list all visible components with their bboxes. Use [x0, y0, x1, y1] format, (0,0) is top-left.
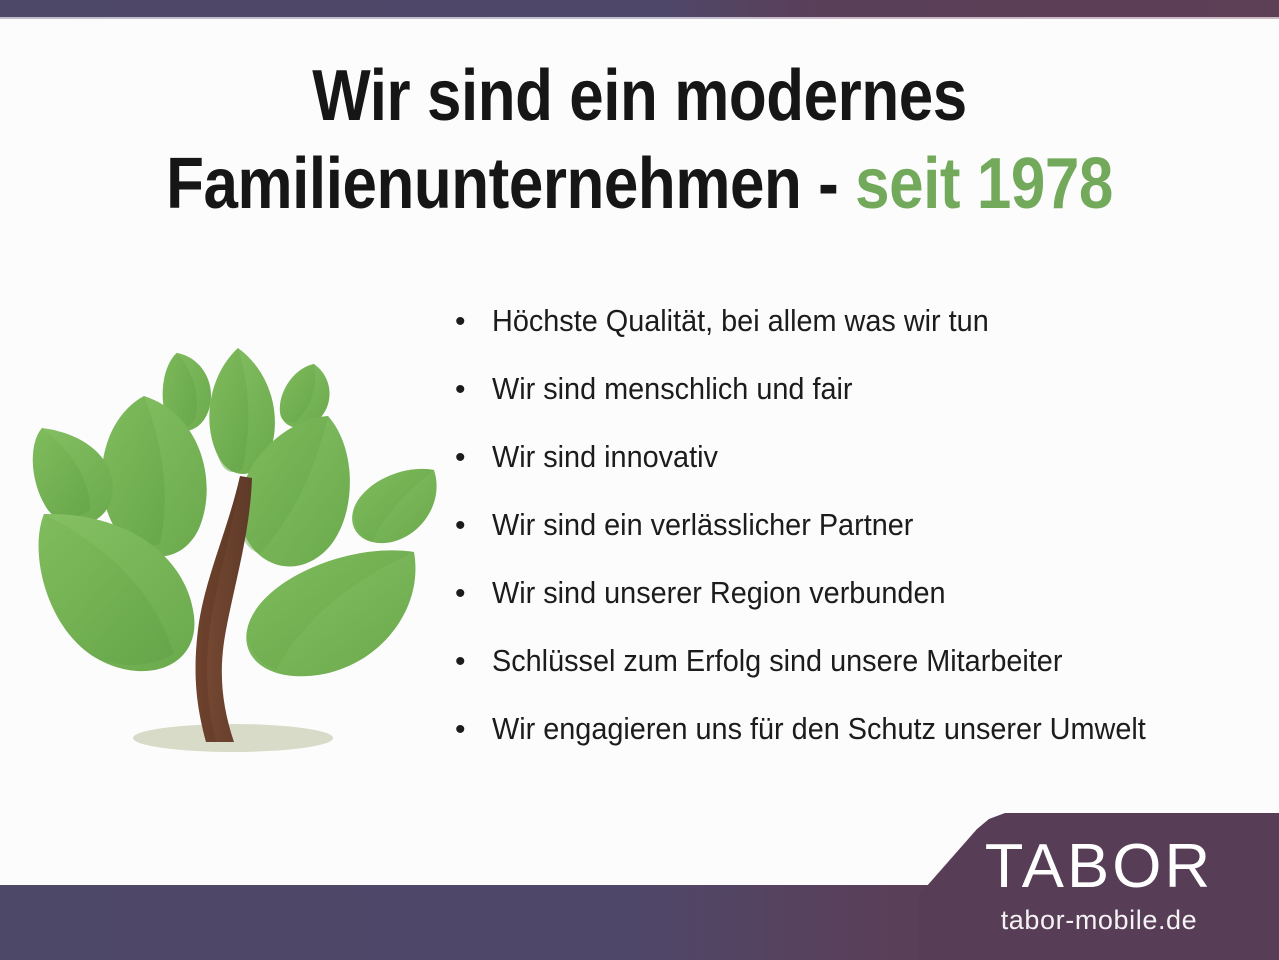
logo-text-group: TABOR tabor-mobile.de: [919, 795, 1279, 960]
bullet-marker-icon: •: [455, 307, 492, 337]
headline-line-2: Familienunternehmen - seit 1978: [90, 140, 1190, 228]
list-item: • Schlüssel zum Erfolg sind unsere Mitar…: [455, 645, 1265, 713]
top-accent-bar-highlight: [0, 17, 1279, 19]
logo-wordmark: TABOR: [985, 836, 1213, 898]
headline-accent: seit 1978: [855, 144, 1113, 224]
value-list: • Höchste Qualität, bei allem was wir tu…: [455, 305, 1265, 781]
list-item-label: Wir sind menschlich und fair: [492, 373, 1211, 404]
list-item: • Wir sind unserer Region verbunden: [455, 577, 1265, 645]
brand-logo: TABOR tabor-mobile.de: [919, 795, 1279, 960]
bullet-marker-icon: •: [455, 579, 492, 609]
page-title: Wir sind ein modernes Familienunternehme…: [90, 52, 1190, 228]
list-item: • Wir sind menschlich und fair: [455, 373, 1265, 441]
bullet-marker-icon: •: [455, 715, 492, 745]
list-item-label: Wir sind unserer Region verbunden: [492, 577, 1211, 608]
list-item: • Wir engagieren uns für den Schutz unse…: [455, 713, 1265, 781]
list-item: • Wir sind innovativ: [455, 441, 1265, 509]
list-item-label: Schlüssel zum Erfolg sind unsere Mitarbe…: [492, 645, 1211, 676]
slide-canvas: Wir sind ein modernes Familienunternehme…: [0, 0, 1279, 960]
tree-icon: [28, 330, 448, 762]
bullet-marker-icon: •: [455, 647, 492, 677]
list-item: • Wir sind ein verlässlicher Partner: [455, 509, 1265, 577]
top-accent-bar: [0, 0, 1279, 17]
logo-domain: tabor-mobile.de: [1001, 907, 1198, 934]
headline-line-2-plain: Familienunternehmen -: [166, 144, 855, 224]
list-item-label: Höchste Qualität, bei allem was wir tun: [492, 305, 1211, 336]
bullet-marker-icon: •: [455, 511, 492, 541]
headline-line-1: Wir sind ein modernes: [90, 52, 1190, 140]
bullet-marker-icon: •: [455, 375, 492, 405]
list-item-label: Wir engagieren uns für den Schutz unsere…: [492, 713, 1211, 744]
tree-shadow: [133, 724, 333, 752]
bullet-marker-icon: •: [455, 443, 492, 473]
list-item-label: Wir sind innovativ: [492, 441, 1211, 472]
list-item: • Höchste Qualität, bei allem was wir tu…: [455, 305, 1265, 373]
list-item-label: Wir sind ein verlässlicher Partner: [492, 509, 1211, 540]
